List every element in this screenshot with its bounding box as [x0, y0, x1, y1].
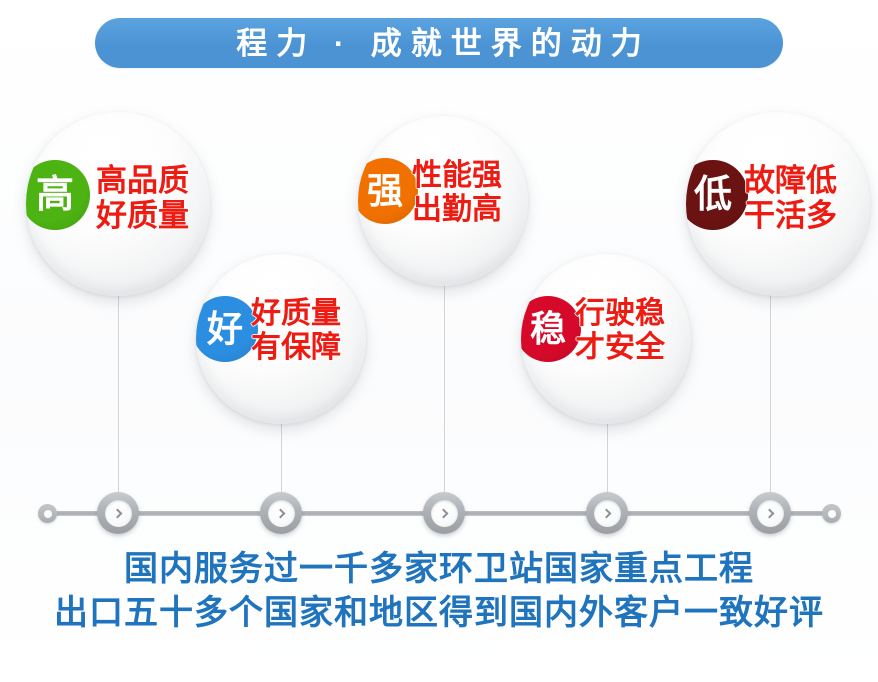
- stem-1: [118, 278, 119, 511]
- timeline-node-1[interactable]: [97, 492, 139, 534]
- feature-bubble-2[interactable]: 好 好质量 有保障: [196, 254, 366, 424]
- endpoint-inner-left: [44, 510, 52, 518]
- bubble-3-text: 性能强 出勤高: [412, 159, 502, 226]
- bubble-4-line-2: 才安全: [575, 331, 665, 365]
- infographic-canvas: 程力 · 成就世界的动力 高 高品质 好质量 好 好质量 有保障 强 性能强 出…: [0, 0, 878, 682]
- bubble-3-line-2: 出勤高: [412, 193, 502, 227]
- footer-line-1: 国内服务过一千多家环卫站国家重点工程: [0, 548, 878, 592]
- bubble-2-line-1: 好质量: [251, 297, 341, 331]
- chevron-right-icon: [438, 508, 448, 518]
- footer-line-2: 出口五十多个国家和地区得到国内外客户一致好评: [0, 592, 878, 636]
- timeline-endpoint-left: [38, 504, 57, 523]
- chevron-right-icon: [275, 508, 285, 518]
- bubble-2-text: 好质量 有保障: [251, 297, 341, 364]
- bubble-2-line-2: 有保障: [251, 331, 341, 365]
- node-inner-2: [268, 500, 295, 527]
- chevron-right-icon: [764, 508, 774, 518]
- bubble-5-text: 故障低 干活多: [744, 164, 837, 233]
- chevron-right-icon: [112, 508, 122, 518]
- header-banner: 程力 · 成就世界的动力: [95, 18, 783, 68]
- badge-4: 稳: [521, 296, 581, 362]
- timeline-node-4[interactable]: [586, 492, 628, 534]
- bubble-4-text: 行驶稳 才安全: [575, 297, 665, 364]
- node-inner-5: [757, 500, 784, 527]
- timeline-node-2[interactable]: [260, 492, 302, 534]
- stem-5: [770, 278, 771, 511]
- feature-bubble-3[interactable]: 强 性能强 出勤高: [358, 116, 528, 286]
- chevron-right-icon: [601, 508, 611, 518]
- badge-5: 低: [686, 160, 748, 230]
- feature-bubble-1[interactable]: 高 高品质 好质量: [26, 112, 210, 296]
- timeline-node-5[interactable]: [749, 492, 791, 534]
- timeline-node-3[interactable]: [423, 492, 465, 534]
- bubble-3-line-1: 性能强: [412, 159, 502, 193]
- bubble-5-line-2: 干活多: [744, 199, 837, 234]
- bubble-1-line-2: 好质量: [96, 199, 189, 234]
- badge-2: 好: [196, 296, 258, 362]
- banner-title: 程力 · 成就世界的动力: [227, 28, 651, 59]
- node-inner-3: [431, 500, 458, 527]
- endpoint-inner-right: [828, 510, 836, 518]
- badge-1: 高: [26, 160, 90, 230]
- bubble-4-line-1: 行驶稳: [575, 297, 665, 331]
- feature-bubble-5[interactable]: 低 故障低 干活多: [686, 112, 870, 296]
- node-inner-1: [105, 500, 132, 527]
- node-inner-4: [594, 500, 621, 527]
- feature-bubble-4[interactable]: 稳 行驶稳 才安全: [521, 254, 691, 424]
- bubble-1-text: 高品质 好质量: [96, 164, 189, 233]
- bubble-5-line-1: 故障低: [744, 164, 837, 199]
- bubble-1-line-1: 高品质: [96, 164, 189, 199]
- badge-3: 强: [358, 158, 418, 224]
- stem-3: [444, 282, 445, 511]
- footer-text-block: 国内服务过一千多家环卫站国家重点工程 出口五十多个国家和地区得到国内外客户一致好…: [0, 548, 878, 635]
- timeline-endpoint-right: [822, 504, 841, 523]
